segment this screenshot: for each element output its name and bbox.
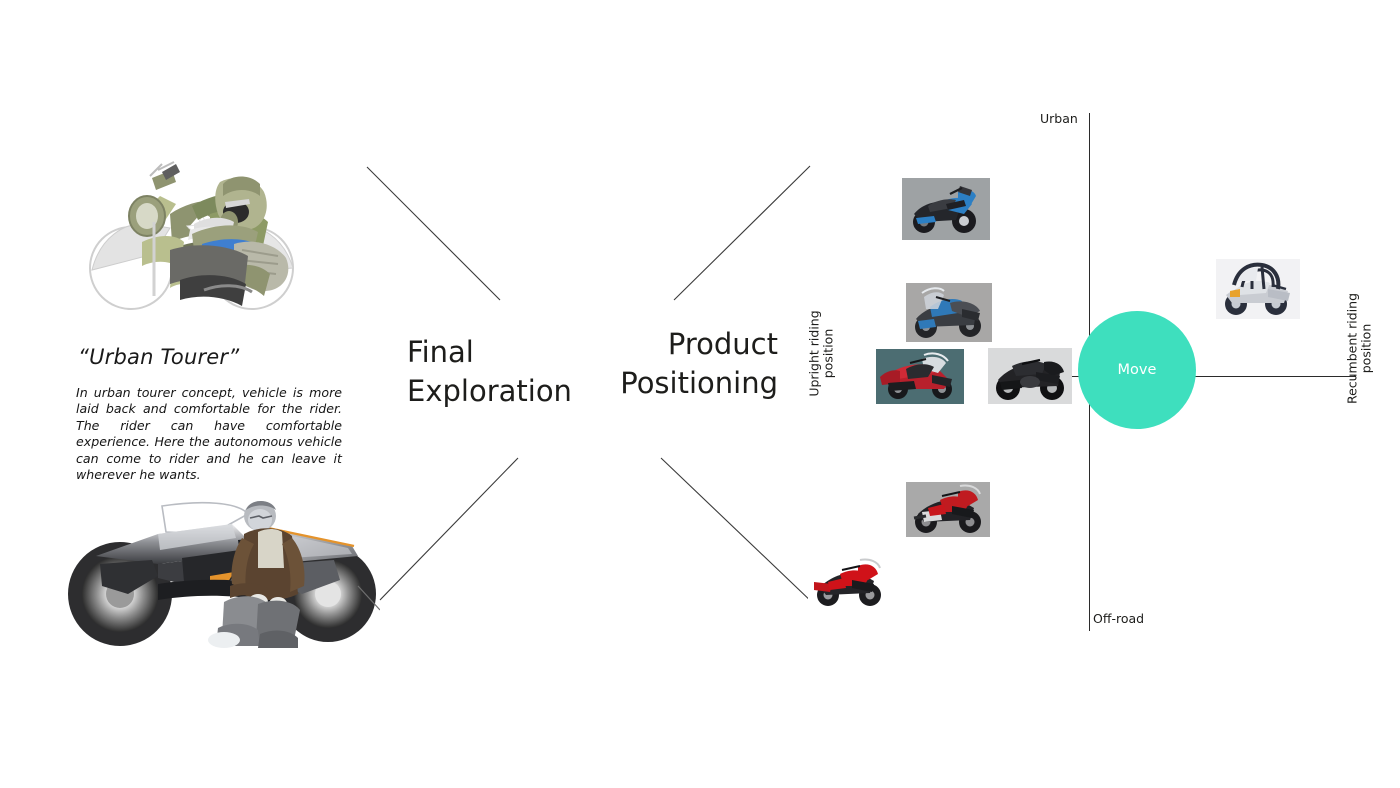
axis-label-upright-riding-position: Upright riding position [808,294,835,414]
stage-title-product-positioning: Product Positioning [620,325,778,403]
map-thumb-blue-maxi-scooter [906,283,992,342]
connector-final-to-product-bottom [661,458,815,605]
axis-label-off-road: Off-road [1093,611,1144,626]
map-thumb-red-adventure-bike [906,482,990,537]
map-thumb-blue-sport-scooter [902,178,990,240]
map-thumb-red-multistrada [808,558,890,609]
map-thumb-enclosed-roof-scooter [1216,259,1300,319]
map-thumb-black-cruiser [988,348,1072,404]
move-bubble: Move [1078,311,1196,429]
move-bubble-label: Move [1118,362,1157,378]
slide-canvas: “Urban Tourer” In urban tourer concept, … [0,0,1400,788]
axis-label-urban: Urban [1040,111,1078,126]
connector-concept-to-final-bottom [380,458,518,600]
axis-label-recumbent-riding-position: Recumbent riding position [1346,284,1373,414]
connector-final-to-product-top [674,166,810,300]
connector-concept-to-final-top [367,167,500,300]
map-thumb-red-touring-motorcycle [876,349,964,404]
stage-title-final-exploration: Final Exploration [407,333,572,411]
